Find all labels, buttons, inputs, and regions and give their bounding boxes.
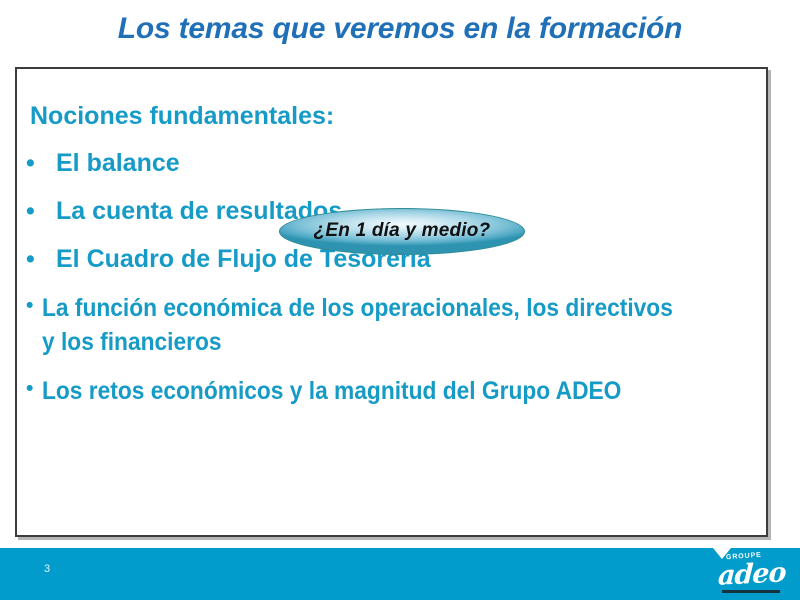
bullet-marker-icon: • bbox=[26, 199, 56, 224]
bullet-marker-icon: • bbox=[26, 291, 42, 321]
list-item: • El balance bbox=[26, 149, 180, 178]
list-item-label: Los retos económicos y la magnitud del G… bbox=[42, 374, 678, 408]
adeo-logo: GROUPE adeo bbox=[718, 553, 790, 595]
callout-text: ¿En 1 día y medio? bbox=[314, 220, 491, 242]
list-item: • Los retos económicos y la magnitud del… bbox=[26, 374, 741, 408]
bullet-marker-icon: • bbox=[26, 151, 56, 176]
slide: Los temas que veremos en la formación No… bbox=[0, 0, 800, 600]
page-number: 3 bbox=[44, 563, 50, 575]
bullet-marker-icon: • bbox=[26, 247, 56, 272]
callout-oval: ¿En 1 día y medio? bbox=[279, 208, 525, 255]
list-item-label: La función económica de los operacionale… bbox=[42, 291, 678, 359]
bullet-marker-icon: • bbox=[26, 374, 42, 404]
logo-adeo-wordmark: adeo bbox=[717, 557, 786, 592]
list-item: • La función económica de los operaciona… bbox=[26, 291, 741, 359]
logo-underline bbox=[722, 590, 780, 593]
page-title: Los temas que veremos en la formación bbox=[0, 12, 800, 46]
footer-bar bbox=[0, 548, 800, 600]
content-box: Nociones fundamentales: • El balance • L… bbox=[15, 67, 768, 537]
body-heading: Nociones fundamentales: bbox=[30, 102, 334, 131]
list-item-label: El balance bbox=[56, 149, 180, 178]
